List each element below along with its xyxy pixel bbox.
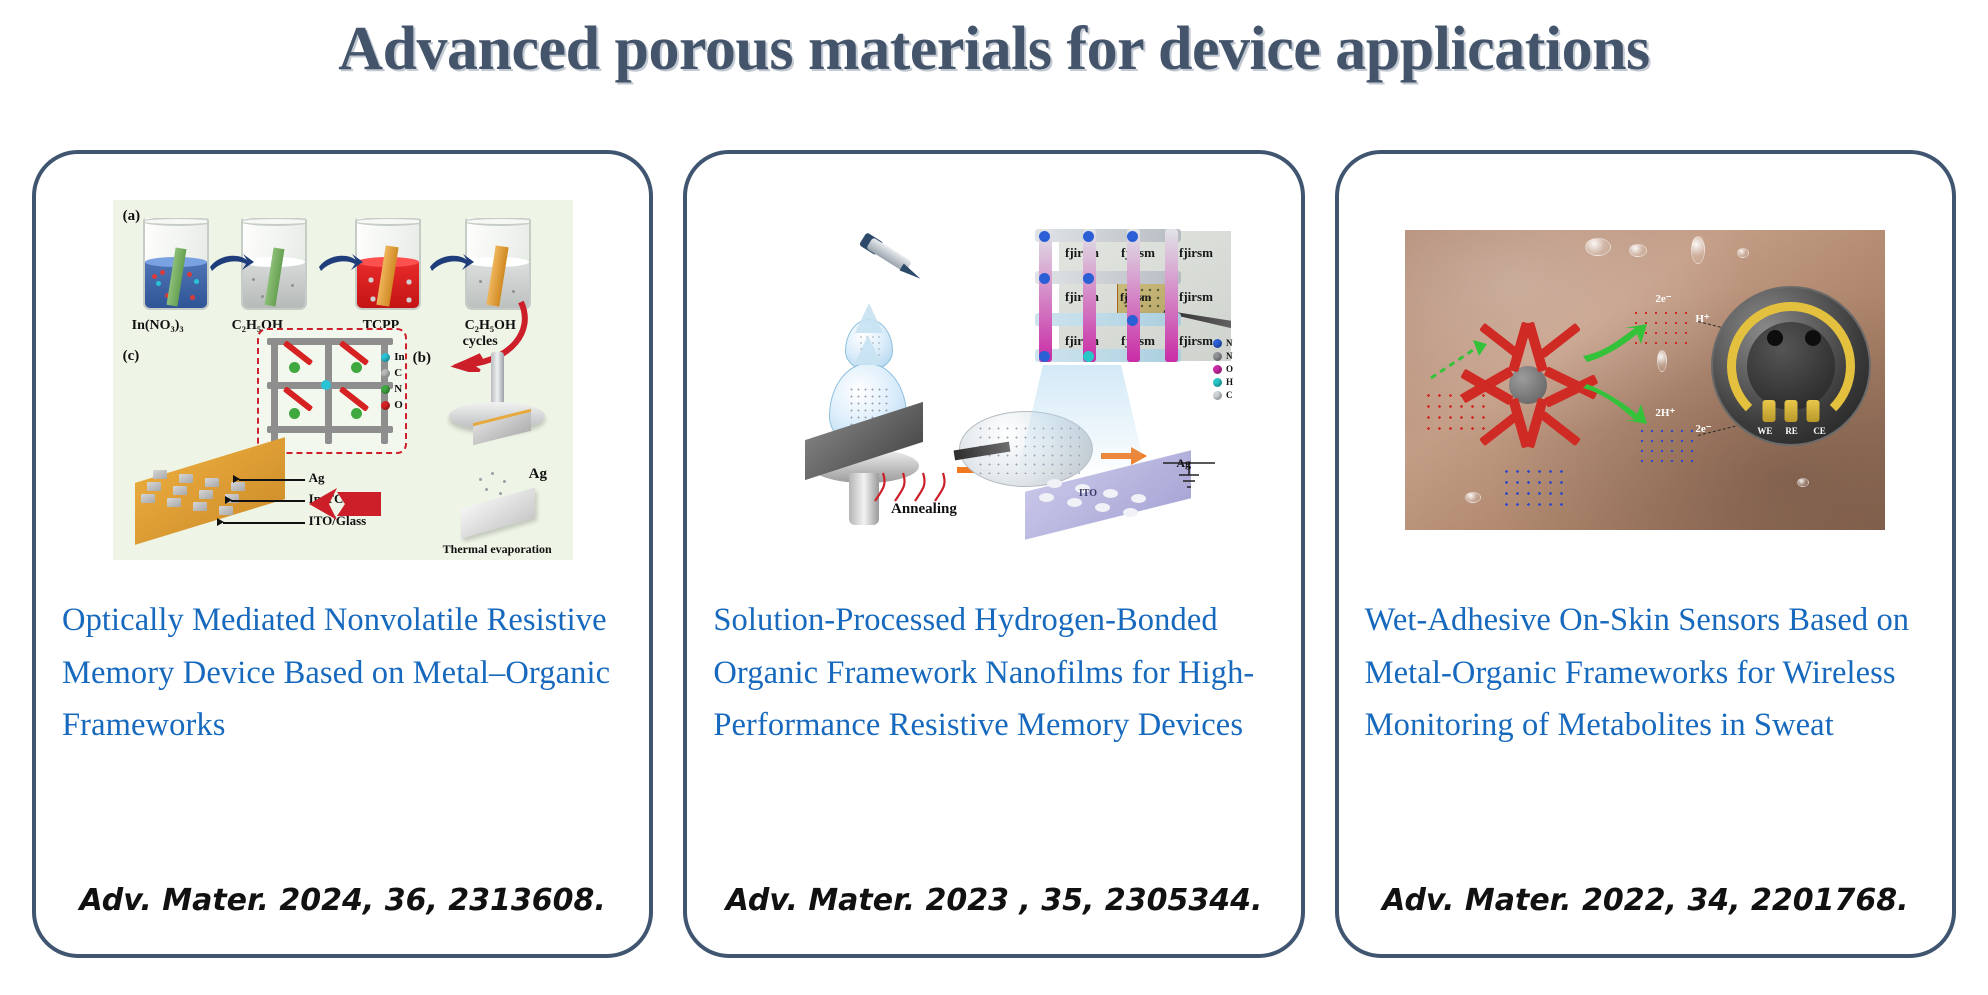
molecule-dot — [190, 295, 195, 300]
figure-tag-c: (c) — [123, 348, 140, 365]
mof-strut — [325, 338, 332, 444]
electrode-ce — [1807, 400, 1820, 422]
panel-3-citation: Adv. Mater. 2022, 34, 2201768. — [1359, 883, 1932, 940]
figure-2-wrapper: Annealing — [707, 172, 1280, 588]
metabolite-molecule — [1637, 426, 1695, 468]
framework-strut — [1083, 229, 1096, 362]
framework-atom-n — [1039, 231, 1050, 242]
panel-1-caption: Optically Mediated Nonvolatile Resistive… — [56, 588, 629, 752]
beaker-rim — [143, 218, 209, 226]
device-layer-label-ag: Ag — [309, 470, 325, 486]
beaker-rim — [241, 218, 307, 226]
legend-swatch-in — [381, 353, 390, 362]
reaction-arrow-icon — [1581, 380, 1651, 428]
legend-label: N — [1226, 350, 1233, 363]
photo-text: fjirsm — [1179, 289, 1213, 305]
mof-linker — [282, 386, 312, 412]
mof-arm — [1525, 398, 1548, 449]
electrode-pad — [167, 498, 181, 507]
thermal-evaporation-label: Thermal evaporation — [443, 542, 552, 557]
hof-framework-structure — [1035, 223, 1181, 363]
sensor-electrode-group — [1763, 400, 1820, 422]
legend-row: In — [381, 350, 404, 366]
mof-atom-n — [289, 362, 300, 373]
figure-tag-b: (b) — [413, 350, 431, 367]
photo-text: fjirsm — [1179, 245, 1213, 261]
atom-legend: N N O H — [1213, 337, 1233, 402]
tool-stem — [491, 352, 504, 408]
metabolite-molecule — [1501, 466, 1567, 508]
molecule-dot — [160, 270, 165, 275]
figure-1-wrapper: (a) — [56, 172, 629, 588]
legend-label: C — [394, 366, 402, 382]
molecule-dot — [512, 290, 515, 293]
callout-line — [231, 500, 305, 502]
ag-electrode-pad — [1039, 493, 1054, 502]
legend-label: H — [1226, 376, 1233, 389]
framework-strut — [1165, 229, 1178, 362]
evaporation-material-label: Ag — [529, 466, 547, 483]
framework-atom-n — [1083, 273, 1094, 284]
legend-label: N — [394, 382, 402, 398]
electrode-pad — [219, 506, 233, 515]
molecule-dot — [194, 279, 199, 284]
legend-row: H — [1213, 376, 1233, 389]
wearable-sensor-device[interactable]: WE RE CE — [1711, 286, 1871, 446]
electrode-pad — [141, 494, 155, 503]
vapor-particle — [491, 472, 494, 475]
ag-electrode-pad — [1131, 494, 1146, 503]
legend-row: C — [381, 366, 404, 382]
panel-row: (a) — [32, 150, 1956, 958]
electrode-re — [1785, 400, 1798, 422]
reaction-arrow-dashed-icon — [1429, 338, 1491, 382]
electrode-pad — [173, 486, 187, 495]
panel-2-caption: Solution-Processed Hydrogen-Bonded Organ… — [707, 588, 1280, 752]
legend-swatch-o — [1213, 365, 1222, 374]
legend-label: O — [394, 398, 403, 414]
figure-tag-a: (a) — [123, 208, 141, 225]
legend-swatch-c — [1213, 391, 1222, 400]
callout-arrowhead — [225, 496, 232, 504]
callout-line — [223, 522, 305, 524]
ag-electrode-pad — [1095, 503, 1110, 512]
legend-swatch-n2 — [1213, 352, 1222, 361]
panel-mof-resistive-memory[interactable]: (a) — [32, 150, 653, 958]
electrode-label-we: WE — [1757, 426, 1772, 436]
mof-arm — [1539, 411, 1581, 446]
ag-electrode-pad — [1123, 508, 1138, 517]
memory-device-substrate — [1025, 457, 1221, 539]
reaction-label-2h: 2H⁺ — [1655, 406, 1675, 419]
electrode-pad — [231, 482, 245, 491]
page-title: Advanced porous materials for device app… — [0, 14, 1988, 85]
legend-label: In — [394, 350, 404, 366]
framework-atom-h — [1083, 351, 1094, 362]
framework-atom-n — [1083, 231, 1094, 242]
legend-row: N — [381, 382, 404, 398]
electrode-label-re: RE — [1785, 426, 1798, 436]
molecule-dot — [479, 280, 482, 283]
legend-row: O — [1213, 363, 1233, 376]
evaporation-boat — [461, 487, 535, 538]
mof-arm — [1539, 323, 1581, 358]
transfer-arrow-icon — [303, 488, 381, 520]
framework-atom-n — [1127, 315, 1138, 326]
legend-row: C — [1213, 389, 1233, 402]
mof-atom-in — [321, 380, 331, 390]
framework-atom-n — [1127, 231, 1138, 242]
figure-on-skin-mof-sweat-sensor-photo: 2e⁻ H⁺ 2H⁺ 2e⁻ — [1405, 230, 1885, 530]
electrode-pad — [199, 490, 213, 499]
vapor-particle — [485, 488, 488, 491]
vapor-particle — [499, 492, 502, 495]
legend-label: N — [1226, 337, 1233, 350]
mof-atom-n — [289, 408, 300, 419]
figure-hof-nanofilm-spincoating-schematic: Annealing — [749, 215, 1239, 545]
electrode-pad — [153, 470, 167, 479]
flow-arrow-icon — [429, 252, 475, 274]
mof-strut — [271, 338, 278, 444]
legend-swatch-c — [381, 369, 390, 378]
molecule-dot — [156, 281, 161, 286]
callout-arrowhead — [233, 475, 240, 483]
cycles-label: cycles — [463, 334, 498, 350]
electrode-pad — [179, 474, 193, 483]
panel-hof-nanofilm-memory[interactable]: Annealing — [683, 150, 1304, 958]
legend-swatch-n — [381, 385, 390, 394]
atom-legend: In C N O — [381, 350, 404, 414]
framework-atom-n — [1039, 351, 1050, 362]
molecule-cluster — [403, 276, 415, 288]
molecule-dot — [187, 272, 192, 277]
framework-strut — [1035, 229, 1181, 242]
electrode-pad — [205, 478, 219, 487]
figure-3-wrapper: 2e⁻ H⁺ 2H⁺ 2e⁻ — [1359, 172, 1932, 588]
photo-text: fjirsm — [1179, 333, 1213, 349]
molecule-dot — [291, 284, 294, 287]
molecule-dot — [261, 295, 264, 298]
framework-atom-n — [1039, 273, 1050, 284]
framework-strut — [1035, 271, 1181, 284]
framework-strut — [1127, 229, 1140, 362]
mof-atom-n — [351, 362, 362, 373]
device-electrode-label: Ag — [1176, 456, 1191, 471]
framework-strut — [1035, 349, 1181, 362]
pipette-tip — [899, 264, 922, 282]
beaker-1 — [143, 218, 209, 310]
panel-2-citation: Adv. Mater. 2023 , 35, 2305344. — [707, 883, 1280, 940]
framework-strut — [1039, 229, 1052, 362]
ag-electrode-pad — [1047, 479, 1062, 488]
callout-line — [239, 479, 305, 481]
sensor-face — [1747, 322, 1835, 410]
electrode-label-ce: CE — [1813, 426, 1826, 436]
reaction-label-2e: 2e⁻ — [1655, 292, 1671, 305]
ag-electrode-pad — [1103, 489, 1118, 498]
legend-swatch-o — [381, 401, 390, 410]
legend-row: O — [381, 398, 404, 414]
ag-electrode-pad — [1067, 498, 1082, 507]
metabolite-molecule — [1423, 390, 1485, 438]
beaker-label-1: In(NO₃)₃ — [132, 318, 184, 334]
device-stack-3d — [127, 450, 297, 542]
electrode-pad — [193, 502, 207, 511]
figure-mof-resistive-memory-schematic: (a) — [113, 200, 573, 560]
legend-swatch-h — [1213, 378, 1222, 387]
heat-wave-icon — [869, 471, 959, 505]
vapor-particle — [503, 480, 506, 483]
molecule-cluster — [365, 274, 377, 286]
thermal-evaporation-source — [453, 472, 559, 546]
panel-3-caption: Wet-Adhesive On-Skin Sensors Based on Me… — [1359, 588, 1932, 752]
spin-coater-tool — [443, 350, 553, 460]
panel-1-citation: Adv. Mater. 2024, 36, 2313608. — [56, 883, 629, 940]
callout-arrowhead — [217, 518, 224, 526]
framework-strut — [1035, 313, 1181, 326]
flow-arrow-icon — [209, 252, 255, 274]
electrode-pad — [147, 482, 161, 491]
reaction-arrow-icon — [1581, 322, 1651, 366]
beaker-rim — [355, 218, 421, 226]
molecule-dot — [152, 274, 157, 279]
electrode-we — [1763, 400, 1776, 422]
legend-label: O — [1226, 363, 1233, 376]
device-substrate-label: ITO — [1079, 488, 1097, 499]
legend-swatch-n — [1213, 339, 1222, 348]
poster-root: Advanced porous materials for device app… — [0, 0, 1988, 995]
mof-atom-n — [351, 408, 362, 419]
flow-arrow-icon — [318, 252, 364, 274]
beaker-3 — [355, 218, 421, 310]
legend-row: N — [1213, 337, 1233, 350]
mof-arm — [1479, 411, 1521, 446]
legend-row: N — [1213, 350, 1233, 363]
legend-label: C — [1226, 389, 1233, 402]
vapor-particle — [479, 478, 482, 481]
beaker-rim — [465, 218, 531, 226]
panel-on-skin-sweat-sensor[interactable]: 2e⁻ H⁺ 2H⁺ 2e⁻ — [1335, 150, 1956, 958]
molecule-dot — [252, 278, 255, 281]
